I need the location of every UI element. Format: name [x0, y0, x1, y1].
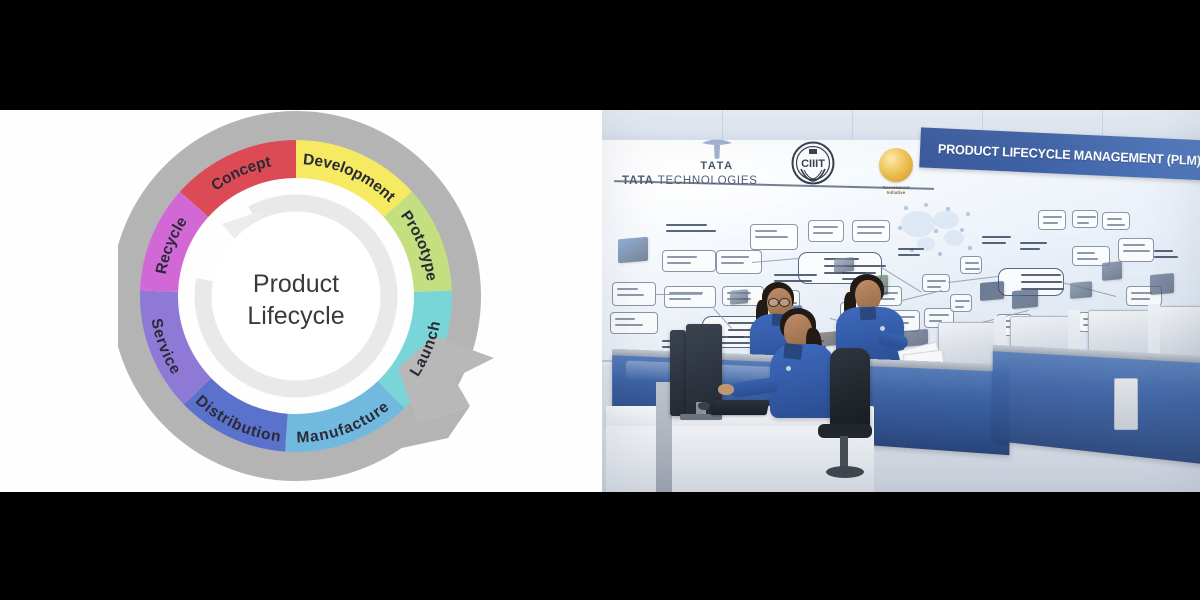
svg-text:CIIIT: CIIIT [801, 158, 825, 170]
infographic-pseudo-text [1043, 222, 1058, 224]
infographic-pseudo-text [927, 286, 941, 288]
infographic-pseudo-text [1107, 224, 1125, 226]
infographic-box [1102, 212, 1130, 230]
infographic-pseudo-text [982, 236, 1011, 238]
infographic-icon [980, 281, 1004, 301]
world-map-graphic [892, 198, 984, 262]
infographic-pseudo-text [1154, 250, 1173, 252]
infographic-pseudo-text [617, 294, 644, 296]
wheel-center-title-line1: Product [253, 270, 339, 298]
infographic-box [662, 250, 716, 272]
infographic-pseudo-text [1021, 281, 1062, 283]
product-lifecycle-panel: Product Lifecycle DevelopmentPrototypeLa… [0, 110, 602, 492]
infographic-pseudo-text [965, 268, 980, 270]
infographic-box [852, 220, 890, 242]
infographic-pseudo-text [1154, 256, 1178, 258]
infographic-icon [1102, 261, 1122, 281]
infographic-pseudo-text [982, 242, 1006, 244]
infographic-pseudo-text [755, 230, 777, 232]
tata-logo-icon [700, 138, 734, 160]
infographic-box [1038, 210, 1066, 230]
infographic-pseudo-text [1020, 248, 1040, 250]
wheel-center-title-line2: Lifecycle [247, 302, 344, 330]
office-chair-base [826, 466, 864, 478]
infographic-box [610, 312, 658, 334]
infographic-pseudo-text [721, 262, 744, 264]
letterbox-bar-bottom [0, 492, 1200, 600]
infographic-pseudo-text [667, 256, 697, 258]
infographic-pseudo-text [1131, 298, 1150, 300]
infographic-pseudo-text [669, 298, 691, 300]
infographic-pseudo-text [617, 288, 638, 290]
ciiit-seal-icon: CIIIT [790, 140, 836, 186]
infographic-pseudo-text [721, 256, 749, 258]
person-3-collar [860, 307, 877, 321]
keyboard[interactable] [710, 400, 769, 415]
infographic-pseudo-text [929, 314, 949, 316]
tata-wordmark: TATA [622, 161, 812, 172]
infographic-pseudo-text [927, 280, 946, 282]
desktop-tower [1114, 378, 1138, 430]
infographic-pseudo-text [615, 324, 643, 326]
infographic-pseudo-text [1077, 222, 1089, 224]
infographic-connector [656, 294, 702, 295]
infographic-icon [1150, 273, 1174, 295]
infographic-box [612, 282, 656, 306]
infographic-pseudo-text [813, 232, 833, 234]
infographic-pseudo-text [1077, 258, 1098, 260]
infographic-pseudo-text [1043, 216, 1062, 218]
mouse[interactable] [698, 402, 710, 410]
lifecycle-wheel: Product Lifecycle DevelopmentPrototypeLa… [118, 110, 498, 492]
person-1-torso [770, 344, 836, 418]
infographic-pseudo-text [774, 274, 817, 276]
person-1-hand [718, 384, 734, 395]
letterbox-bar-top [0, 0, 1200, 110]
infographic-box [922, 274, 950, 292]
infographic-pseudo-text [1107, 218, 1122, 220]
infographic-box [664, 286, 716, 308]
gold-emblem-disc [879, 148, 913, 182]
office-chair-post [840, 436, 848, 470]
infographic-icon [1012, 289, 1038, 309]
infographic-box [1118, 238, 1154, 262]
content-band: Product Lifecycle DevelopmentPrototypeLa… [0, 110, 1200, 492]
infographic-pseudo-text [813, 226, 838, 228]
infographic-pseudo-text [1123, 244, 1145, 246]
infographic-pseudo-text [857, 226, 885, 228]
infographic-pseudo-text [615, 318, 635, 320]
infographic-pseudo-text [1021, 274, 1061, 276]
infographic-pseudo-text [1020, 242, 1047, 244]
infographic-box [1072, 210, 1098, 228]
infographic-pseudo-text [1123, 250, 1150, 252]
monitor-foreground-side [670, 330, 686, 416]
infographic-pseudo-text [955, 306, 964, 308]
infographic-pseudo-text [965, 262, 979, 264]
infographic-box [808, 220, 844, 242]
infographic-box [750, 224, 798, 250]
person-3-shirt-logo [880, 326, 885, 331]
office-chair-back [830, 348, 870, 430]
person-1-shirt-logo [786, 366, 791, 371]
infographic-pseudo-text [667, 262, 691, 264]
infographic-pseudo-text [666, 230, 716, 232]
infographic-icon [730, 289, 748, 305]
plm-banner-title: PRODUCT LIFECYCLE MANAGEMENT (PLM) [924, 140, 1200, 168]
infographic-pseudo-text [1077, 216, 1096, 218]
screenshot-frame: Product Lifecycle DevelopmentPrototypeLa… [0, 0, 1200, 600]
infographic-icon [1070, 281, 1092, 299]
person-2-glasses [768, 298, 779, 307]
lifecycle-wheel-svg: Product Lifecycle DevelopmentPrototypeLa… [118, 110, 498, 492]
person-1-collar [783, 343, 802, 360]
infographic-icon [618, 237, 648, 264]
infographic-pseudo-text [1077, 252, 1095, 254]
infographic-pseudo-text [666, 224, 707, 226]
infographic-icon [834, 257, 854, 273]
infographic-box [960, 256, 982, 274]
person-2-glasses-right [779, 298, 790, 307]
office-photo-panel: TATA TATA TECHNOLOGIES CIIIT [602, 110, 1200, 492]
infographic-pseudo-text [955, 300, 970, 302]
tata-logo-block: TATA TATA TECHNOLOGIES [622, 138, 812, 187]
infographic-pseudo-text [898, 248, 924, 250]
infographic-pseudo-text [857, 232, 882, 234]
infographic-box [950, 294, 972, 312]
infographic-pseudo-text [755, 236, 788, 238]
infographic-pseudo-text [898, 254, 920, 256]
